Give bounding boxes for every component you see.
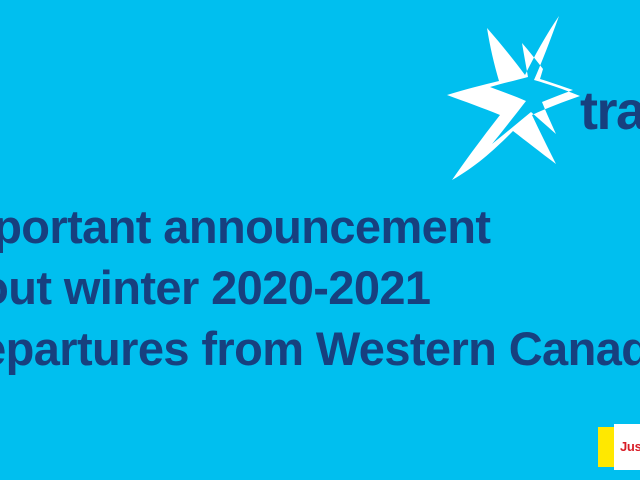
- transat-wordmark: tran: [580, 84, 640, 138]
- partner-badge: Just T: [598, 424, 640, 470]
- headline-line-1: mportant announcement: [0, 203, 640, 253]
- headline-line-3: departures from Western Canada: [0, 314, 640, 375]
- headline-line-2: bout winter 2020-2021: [0, 253, 640, 314]
- announcement-banner: tran mportant announcement bout winter 2…: [0, 0, 640, 480]
- partner-name: Just T: [620, 439, 640, 454]
- transat-star-icon: [446, 14, 586, 182]
- transat-logo: tran: [446, 14, 640, 184]
- page-title: mportant announcement bout winter 2020-2…: [0, 203, 640, 375]
